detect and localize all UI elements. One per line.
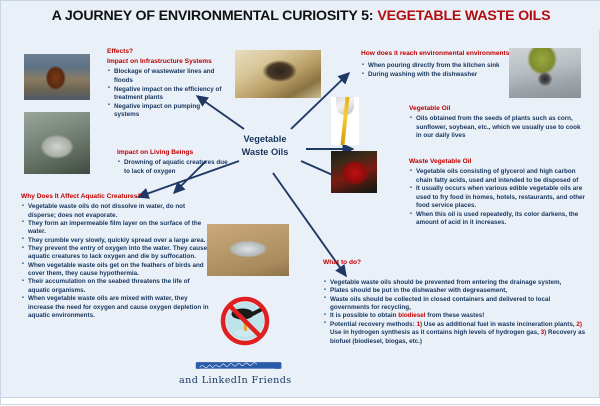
biodiesel-line-prefix: It is possible to obtain bbox=[330, 312, 398, 319]
author-signature bbox=[195, 360, 283, 373]
reach-bullets: When pouring directly from the kitchen s… bbox=[361, 62, 521, 79]
list-item: Vegetable waste oils should be prevented… bbox=[323, 279, 591, 287]
list-item: When vegetable waste oils get on the fea… bbox=[21, 262, 213, 279]
waste-vegetable-oil-bullets: Vegetable oils consisting of glycerol an… bbox=[409, 168, 589, 228]
list-item: It is possible to obtain biodiesel from … bbox=[323, 312, 591, 320]
kitchen-sink-drain-photo bbox=[509, 48, 581, 98]
list-item: Negative impact on pumping systems bbox=[107, 103, 227, 120]
reach-heading: How does it reach environmental environm… bbox=[361, 50, 521, 58]
center-node-vegetable-waste-oils: Vegetable Waste Oils bbox=[229, 133, 301, 160]
biodiesel-highlight: biodiesel bbox=[398, 312, 425, 319]
what-to-do-bullets: Vegetable waste oils should be prevented… bbox=[323, 279, 591, 346]
list-item: Plates should be put in the dishwasher w… bbox=[323, 287, 591, 295]
list-item: During washing with the dishwasher bbox=[361, 71, 521, 79]
list-item: They crumble very slowly, quickly spread… bbox=[21, 237, 213, 245]
waste-vegetable-oil-section: Waste Vegetable Oil Vegetable oils consi… bbox=[409, 158, 589, 228]
aquatic-creatures-section: Why Does It Affect Aquatic Creatures? Ve… bbox=[21, 193, 213, 320]
effects-section: Effects? Impact on Infrastructure System… bbox=[107, 48, 227, 120]
waste-vegetable-oil-heading: Waste Vegetable Oil bbox=[409, 158, 589, 166]
list-item: Drowning of aquatic creatures due to lac… bbox=[117, 159, 229, 176]
infrastructure-bullets: Blockage of wastewater lines and floods … bbox=[107, 68, 227, 119]
center-node-line1: Vegetable bbox=[229, 133, 301, 146]
list-item: When pouring directly from the kitchen s… bbox=[361, 62, 521, 70]
method-1-text: Use as additional fuel in waste incinera… bbox=[422, 321, 576, 328]
list-item: Vegetable waste oils do not dissolve in … bbox=[21, 203, 213, 220]
center-node-line2: Waste Oils bbox=[229, 146, 301, 159]
what-to-do-section: Vegetable waste oils should be prevented… bbox=[323, 279, 591, 346]
list-item: Blockage of wastewater lines and floods bbox=[107, 68, 227, 85]
effects-heading: Effects? bbox=[107, 48, 227, 56]
aquatic-creatures-heading: Why Does It Affect Aquatic Creatures? bbox=[21, 193, 213, 201]
list-item: Vegetable oils consisting of glycerol an… bbox=[409, 168, 589, 185]
living-beings-heading: Impact on Living Beings bbox=[117, 149, 229, 157]
page-title: A JOURNEY OF ENVIRONMENTAL CURIOSITY 5: … bbox=[1, 1, 600, 31]
recovery-prefix: Potential recovery methods: bbox=[330, 321, 416, 328]
list-item: It usually occurs when various edible ve… bbox=[409, 185, 589, 210]
no-pouring-oil-sign bbox=[220, 296, 270, 346]
fatberg-pipe-photo bbox=[235, 50, 321, 98]
list-item: When this oil is used repeatedly, its co… bbox=[409, 211, 589, 228]
bottom-divider bbox=[1, 397, 600, 404]
page-title-accent: VEGETABLE WASTE OILS bbox=[377, 8, 550, 24]
dead-fish-sand-photo bbox=[207, 224, 289, 276]
biodiesel-line-suffix: from these wastes! bbox=[426, 312, 485, 319]
infrastructure-heading: Impact on Infrastructure Systems bbox=[107, 58, 227, 66]
vegetable-oil-heading: Vegetable Oil bbox=[409, 105, 585, 113]
list-item: They prevent the entry of oxygen into th… bbox=[21, 245, 213, 262]
aquatic-creatures-bullets: Vegetable waste oils do not dissolve in … bbox=[21, 203, 213, 320]
list-item: Negative impact on the efficiency of tre… bbox=[107, 86, 227, 103]
list-item: They form an impermeable film layer on t… bbox=[21, 220, 213, 237]
what-to-do-heading-wrap: What to do? bbox=[323, 259, 343, 269]
list-item: Oils obtained from the seeds of plants s… bbox=[409, 115, 585, 140]
vegetable-oil-section: Vegetable Oil Oils obtained from the see… bbox=[409, 105, 585, 141]
method-2-marker: 2) bbox=[576, 321, 582, 328]
frying-pan-oil-photo bbox=[331, 151, 377, 193]
list-item: Waste oils should be collected in closed… bbox=[323, 296, 591, 313]
list-item: Potential recovery methods: 1) Use as ad… bbox=[323, 321, 591, 346]
reach-section: How does it reach environmental environm… bbox=[361, 50, 521, 80]
method-2-text: Use in hydrogen synthesis as it contains… bbox=[330, 329, 541, 336]
living-beings-section: Impact on Living Beings Drowning of aqua… bbox=[117, 149, 229, 176]
list-item: Their accumulation on the seabed threate… bbox=[21, 278, 213, 295]
living-beings-bullets: Drowning of aquatic creatures due to lac… bbox=[117, 159, 229, 176]
pouring-oil-photo bbox=[331, 97, 359, 145]
signature-subtitle: and LinkedIn Friends bbox=[179, 375, 292, 386]
list-item: When vegetable waste oils are mixed with… bbox=[21, 295, 213, 320]
page-title-main: A JOURNEY OF ENVIRONMENTAL CURIOSITY 5: bbox=[52, 8, 374, 24]
vegetable-oil-bullets: Oils obtained from the seeds of plants s… bbox=[409, 115, 585, 140]
infographic-poster: A JOURNEY OF ENVIRONMENTAL CURIOSITY 5: … bbox=[0, 0, 600, 405]
oil-spill-bird-photo bbox=[24, 54, 90, 100]
what-to-do-heading: What to do? bbox=[323, 259, 343, 267]
dead-fish-photo bbox=[24, 112, 90, 174]
